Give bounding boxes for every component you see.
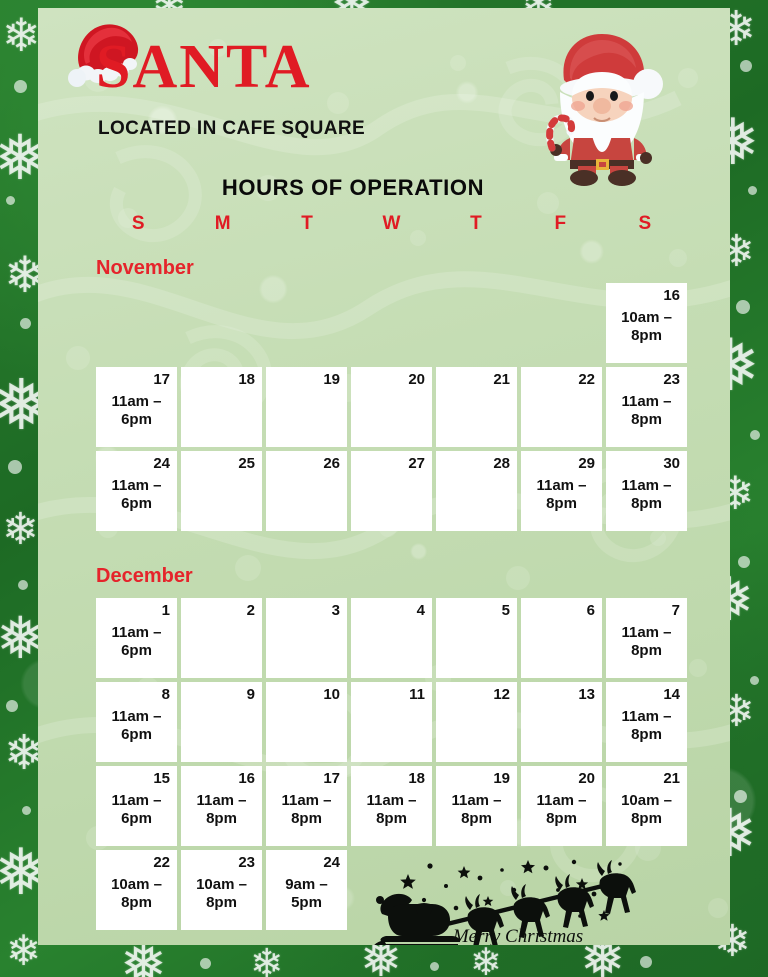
calendar-day-cell[interactable]: 2411am – 6pm bbox=[96, 451, 177, 531]
calendar-day-cell[interactable]: 4 bbox=[351, 598, 432, 678]
bokeh-dot-icon bbox=[200, 958, 211, 969]
calendar-day-cell[interactable]: 2210am – 8pm bbox=[96, 850, 177, 930]
day-number: 4 bbox=[356, 603, 425, 619]
location-subtitle: LOCATED IN CAFE SQUARE bbox=[98, 118, 365, 140]
calendar-day-cell[interactable]: 25 bbox=[181, 451, 262, 531]
calendar-day-cell[interactable]: 1811am – 8pm bbox=[351, 766, 432, 846]
weekday-sun: S bbox=[96, 213, 180, 235]
bokeh-dot-icon bbox=[738, 556, 750, 568]
day-number: 22 bbox=[101, 855, 170, 871]
santa-sleigh-reindeer-icon: Merry Christmas bbox=[368, 856, 658, 945]
calendar-day-cell[interactable]: 9 bbox=[181, 682, 262, 762]
weekday-wed: W bbox=[349, 213, 433, 235]
calendar-day-cell[interactable]: 2110am – 8pm bbox=[606, 766, 687, 846]
day-number: 24 bbox=[271, 855, 340, 871]
bokeh-dot-icon bbox=[748, 186, 757, 195]
calendar-day-cell[interactable]: 111am – 6pm bbox=[96, 598, 177, 678]
calendar-grid-november: 1610am – 8pm1711am – 6pm18192021222311am… bbox=[96, 283, 687, 531]
weekday-tue: T bbox=[265, 213, 349, 235]
calendar-day-cell[interactable]: 2310am – 8pm bbox=[181, 850, 262, 930]
day-number: 6 bbox=[526, 603, 595, 619]
calendar-day-cell[interactable]: 2911am – 8pm bbox=[521, 451, 602, 531]
calendar-day-cell[interactable]: 1711am – 8pm bbox=[266, 766, 347, 846]
day-hours: 11am – 8pm bbox=[608, 624, 685, 661]
day-hours: 11am – 8pm bbox=[608, 708, 685, 745]
calendar-day-cell[interactable]: 20 bbox=[351, 367, 432, 447]
weekday-fri: F bbox=[518, 213, 602, 235]
snowflake-icon: ❄ bbox=[250, 944, 284, 977]
bokeh-dot-icon bbox=[18, 580, 28, 590]
day-number: 15 bbox=[101, 771, 170, 787]
day-number: 21 bbox=[441, 372, 510, 388]
day-hours: 11am – 8pm bbox=[268, 792, 345, 829]
calendar-day-cell[interactable]: 26 bbox=[266, 451, 347, 531]
calendar-empty-cell bbox=[436, 283, 517, 363]
calendar-empty-cell bbox=[266, 283, 347, 363]
calendar-day-cell[interactable]: 3 bbox=[266, 598, 347, 678]
calendar-day-cell[interactable]: 3011am – 8pm bbox=[606, 451, 687, 531]
calendar-day-cell[interactable]: 28 bbox=[436, 451, 517, 531]
day-hours: 11am – 6pm bbox=[98, 477, 175, 514]
weekday-thu: T bbox=[434, 213, 518, 235]
bokeh-dot-icon bbox=[20, 318, 31, 329]
day-number: 21 bbox=[611, 771, 680, 787]
day-number: 29 bbox=[526, 456, 595, 472]
snowflake-icon: ❄ bbox=[6, 930, 41, 972]
bokeh-dot-icon bbox=[14, 80, 27, 93]
bokeh-dot-icon bbox=[740, 60, 752, 72]
day-hours: 11am – 6pm bbox=[98, 708, 175, 745]
day-hours: 10am – 8pm bbox=[183, 876, 260, 913]
bokeh-dot-icon bbox=[640, 956, 652, 968]
bokeh-dot-icon bbox=[8, 460, 22, 474]
snowflake-icon: ❄ bbox=[470, 944, 502, 977]
day-number: 20 bbox=[526, 771, 595, 787]
bokeh-dot-icon bbox=[6, 700, 18, 712]
calendar-day-cell[interactable]: 18 bbox=[181, 367, 262, 447]
calendar-day-cell[interactable]: 1610am – 8pm bbox=[606, 283, 687, 363]
bokeh-dot-icon bbox=[22, 806, 31, 815]
weekday-mon: M bbox=[180, 213, 264, 235]
bokeh-dot-icon bbox=[750, 430, 760, 440]
day-number: 18 bbox=[186, 372, 255, 388]
weekday-sat: S bbox=[603, 213, 687, 235]
weekday-header-row: S M T W T F S bbox=[96, 213, 687, 235]
day-number: 20 bbox=[356, 372, 425, 388]
bokeh-dot-icon bbox=[430, 962, 439, 971]
day-number: 17 bbox=[101, 372, 170, 388]
day-number: 27 bbox=[356, 456, 425, 472]
day-hours: 11am – 8pm bbox=[353, 792, 430, 829]
calendar-day-cell[interactable]: 12 bbox=[436, 682, 517, 762]
day-number: 16 bbox=[611, 288, 680, 304]
day-number: 9 bbox=[186, 687, 255, 703]
day-number: 23 bbox=[186, 855, 255, 871]
calendar-empty-cell bbox=[521, 283, 602, 363]
day-number: 7 bbox=[611, 603, 680, 619]
day-hours: 11am – 8pm bbox=[523, 792, 600, 829]
poster-header: SANTA LOCATED IN CAFE SQUARE HOURS OF OP… bbox=[38, 8, 730, 214]
day-hours: 10am – 8pm bbox=[608, 792, 685, 829]
day-number: 16 bbox=[186, 771, 255, 787]
day-number: 17 bbox=[271, 771, 340, 787]
snowflake-icon: ❄ bbox=[2, 12, 41, 58]
calendar-day-cell[interactable]: 6 bbox=[521, 598, 602, 678]
month-label-november: November bbox=[96, 257, 194, 280]
day-number: 25 bbox=[186, 456, 255, 472]
calendar-day-cell[interactable]: 811am – 6pm bbox=[96, 682, 177, 762]
calendar-day-cell[interactable]: 1611am – 8pm bbox=[181, 766, 262, 846]
day-hours: 11am – 6pm bbox=[98, 393, 175, 430]
day-number: 19 bbox=[271, 372, 340, 388]
day-hours: 9am – 5pm bbox=[268, 876, 345, 913]
calendar-empty-cell bbox=[181, 283, 262, 363]
calendar-day-cell[interactable]: 711am – 8pm bbox=[606, 598, 687, 678]
day-number: 3 bbox=[271, 603, 340, 619]
calendar-day-cell[interactable]: 19 bbox=[266, 367, 347, 447]
day-hours: 11am – 8pm bbox=[608, 393, 685, 430]
merry-christmas-greeting: Merry Christmas bbox=[452, 926, 583, 945]
day-hours: 11am – 6pm bbox=[98, 624, 175, 661]
calendar-day-cell[interactable]: 13 bbox=[521, 682, 602, 762]
day-number: 24 bbox=[101, 456, 170, 472]
day-hours: 10am – 8pm bbox=[98, 876, 175, 913]
day-hours: 11am – 8pm bbox=[438, 792, 515, 829]
bokeh-dot-icon bbox=[736, 300, 750, 314]
bokeh-dot-icon bbox=[750, 676, 759, 685]
day-number: 14 bbox=[611, 687, 680, 703]
calendar-day-cell[interactable]: 21 bbox=[436, 367, 517, 447]
calendar-empty-cell bbox=[96, 283, 177, 363]
calendar-empty-cell bbox=[351, 283, 432, 363]
bokeh-dot-icon bbox=[734, 790, 747, 803]
calendar-day-cell[interactable]: 1911am – 8pm bbox=[436, 766, 517, 846]
calendar-day-cell[interactable]: 2 bbox=[181, 598, 262, 678]
bokeh-dot-icon bbox=[6, 196, 15, 205]
page-title: SANTA bbox=[96, 36, 312, 98]
day-number: 12 bbox=[441, 687, 510, 703]
day-number: 5 bbox=[441, 603, 510, 619]
day-hours: 11am – 6pm bbox=[98, 792, 175, 829]
calendar-day-cell[interactable]: 11 bbox=[351, 682, 432, 762]
calendar-day-cell[interactable]: 1411am – 8pm bbox=[606, 682, 687, 762]
calendar-day-cell[interactable]: 249am – 5pm bbox=[266, 850, 347, 930]
day-number: 23 bbox=[611, 372, 680, 388]
calendar-day-cell[interactable]: 1511am – 6pm bbox=[96, 766, 177, 846]
day-hours: 11am – 8pm bbox=[523, 477, 600, 514]
calendar-day-cell[interactable]: 22 bbox=[521, 367, 602, 447]
calendar-day-cell[interactable]: 10 bbox=[266, 682, 347, 762]
santa-hours-poster: ❄ ❅ ❄ ❅ ❄ ❅ ❄ ❅ ❄ ❄ ❅ ❄ ❅ ❄ ❅ ❄ ❅ ❄ ❅ ❄ … bbox=[0, 0, 768, 977]
day-number: 22 bbox=[526, 372, 595, 388]
calendar-day-cell[interactable]: 27 bbox=[351, 451, 432, 531]
santa-claus-figure-icon bbox=[516, 26, 686, 186]
day-number: 28 bbox=[441, 456, 510, 472]
calendar-day-cell[interactable]: 2311am – 8pm bbox=[606, 367, 687, 447]
day-hours: 11am – 8pm bbox=[608, 477, 685, 514]
calendar-day-cell[interactable]: 2011am – 8pm bbox=[521, 766, 602, 846]
calendar-day-cell[interactable]: 5 bbox=[436, 598, 517, 678]
day-number: 30 bbox=[611, 456, 680, 472]
month-label-december: December bbox=[96, 565, 193, 588]
day-hours: 10am – 8pm bbox=[608, 309, 685, 346]
day-number: 2 bbox=[186, 603, 255, 619]
calendar-panel: SANTA LOCATED IN CAFE SQUARE HOURS OF OP… bbox=[38, 8, 730, 945]
day-number: 8 bbox=[101, 687, 170, 703]
day-number: 1 bbox=[101, 603, 170, 619]
day-number: 13 bbox=[526, 687, 595, 703]
day-number: 11 bbox=[356, 687, 425, 703]
day-number: 10 bbox=[271, 687, 340, 703]
day-number: 18 bbox=[356, 771, 425, 787]
day-number: 19 bbox=[441, 771, 510, 787]
snowflake-icon: ❄ bbox=[2, 508, 39, 552]
day-number: 26 bbox=[271, 456, 340, 472]
day-hours: 11am – 8pm bbox=[183, 792, 260, 829]
calendar-day-cell[interactable]: 1711am – 6pm bbox=[96, 367, 177, 447]
